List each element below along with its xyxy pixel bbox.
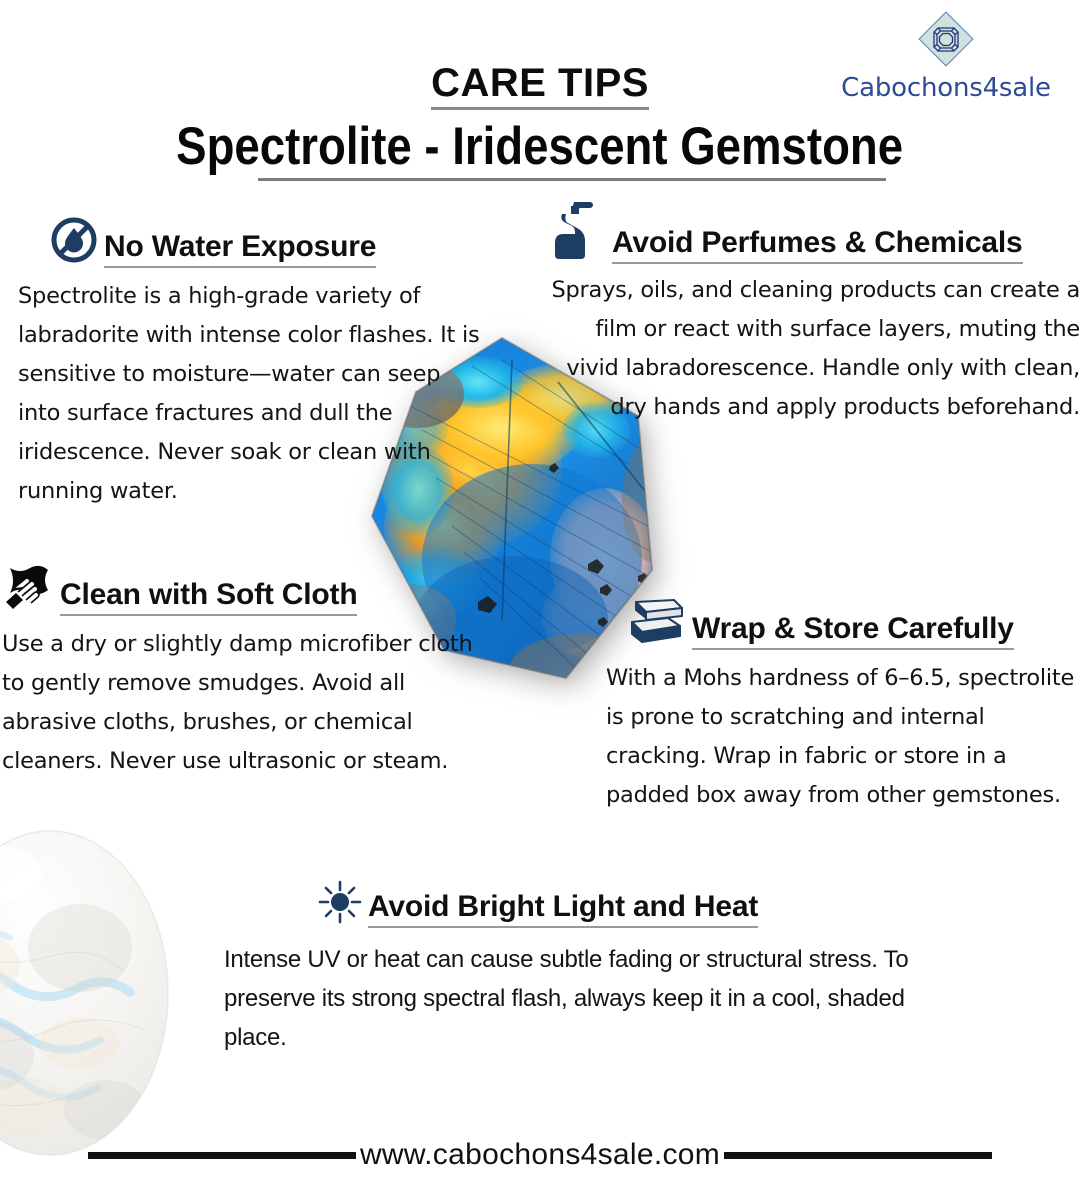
section-header: Wrap & Store Carefully [606, 598, 1080, 650]
footer-website: www.cabochons4sale.com [356, 1138, 724, 1172]
section-wrap-and-store-carefully: Wrap & Store Carefully With a Mohs hardn… [606, 598, 1080, 815]
moonstone-cabochon-photo [0, 828, 190, 1158]
section-body: Use a dry or slightly damp microfiber cl… [2, 625, 496, 781]
section-header: Avoid Perfumes & Chemicals [548, 200, 1080, 264]
page-title: Spectrolite - Iridescent Gemstone [0, 118, 1080, 176]
section-avoid-perfumes-chemicals: Avoid Perfumes & Chemicals Sprays, oils,… [548, 200, 1080, 427]
section-body: With a Mohs hardness of 6–6.5, spectroli… [606, 659, 1080, 815]
section-heading: Avoid Bright Light and Heat [368, 890, 758, 928]
section-body: Intense UV or heat can cause subtle fadi… [224, 940, 964, 1057]
section-avoid-bright-light-and-heat: Avoid Bright Light and Heat Intense UV o… [224, 880, 984, 1057]
sun-icon [318, 880, 362, 928]
section-header: No Water Exposure [18, 216, 518, 268]
section-heading: Wrap & Store Carefully [692, 612, 1014, 650]
infographic-page: Cabochons4sale CARE TIPS Spectrolite - I… [0, 0, 1080, 1200]
section-heading: Clean with Soft Cloth [60, 578, 357, 616]
hand-cloth-wipe-icon [2, 562, 54, 616]
footer-rule-left [88, 1152, 356, 1159]
section-heading: No Water Exposure [104, 230, 376, 268]
footer-rule-right [724, 1152, 992, 1159]
section-body: Sprays, oils, and cleaning products can … [548, 271, 1080, 427]
eyebrow-title: CARE TIPS [0, 62, 1080, 110]
page-title-text: Spectrolite - Iridescent Gemstone [177, 118, 904, 176]
section-body: Spectrolite is a high-grade variety of l… [18, 277, 488, 511]
spray-bottle-icon [548, 200, 606, 264]
section-header: Clean with Soft Cloth [2, 562, 502, 616]
page-title-underline [258, 178, 886, 181]
footer: www.cabochons4sale.com [0, 1138, 1080, 1172]
section-heading: Avoid Perfumes & Chemicals [612, 226, 1023, 264]
no-water-droplet-icon [50, 216, 98, 268]
section-clean-with-soft-cloth: Clean with Soft Cloth Use a dry or sligh… [2, 562, 502, 781]
section-header: Avoid Bright Light and Heat [224, 880, 984, 928]
section-no-water-exposure: No Water Exposure Spectrolite is a high-… [18, 216, 518, 511]
jewelry-box-icon [628, 598, 686, 650]
eyebrow-title-text: CARE TIPS [431, 62, 649, 110]
